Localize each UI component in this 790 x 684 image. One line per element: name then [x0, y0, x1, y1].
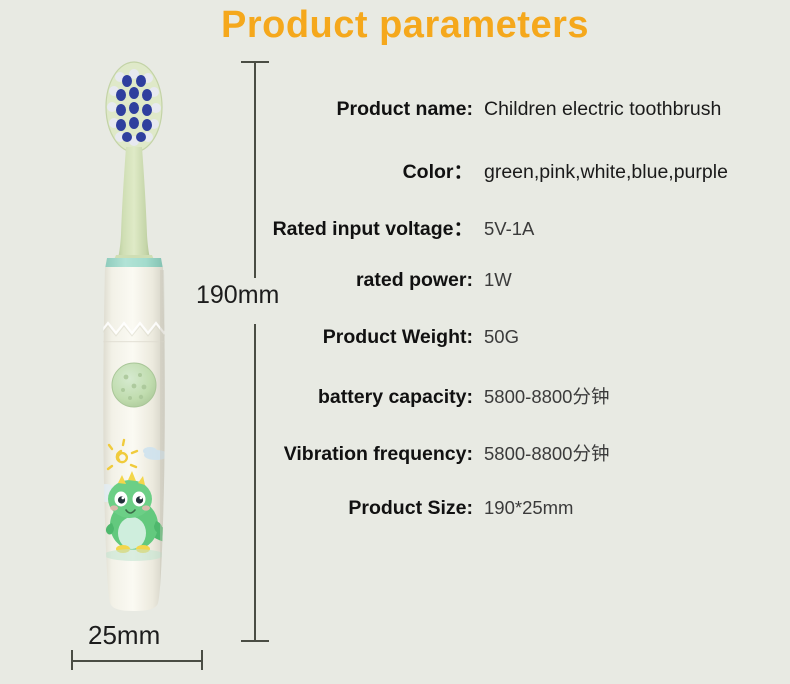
spec-value: 5V-1A [473, 218, 534, 240]
width-dimension-line [72, 660, 202, 662]
spec-label: rated power: [268, 269, 473, 292]
spec-row-product-size: Product Size: 190*25mm [268, 497, 778, 554]
spec-row-color: Color： green,pink,white,blue,purple [268, 155, 778, 212]
page-title: Product parameters [0, 2, 790, 48]
spec-label: battery capacity: [268, 386, 473, 409]
product-image-toothbrush [90, 55, 190, 615]
spec-value: Children electric toothbrush [473, 98, 721, 121]
spec-row-rated-power: rated power: 1W [268, 269, 778, 326]
spec-label: Product Size: [268, 497, 473, 520]
height-dimension-line [254, 62, 256, 641]
width-dimension-tick-left [71, 650, 73, 670]
spec-label: Color： [268, 155, 473, 184]
spec-value: 50G [473, 326, 519, 348]
height-dimension-cap-bottom [241, 640, 269, 642]
spec-value: 5800-8800分钟 [473, 383, 609, 409]
spec-value: 1W [473, 269, 512, 291]
spec-row-rated-input-voltage: Rated input voltage： 5V-1A [268, 212, 778, 269]
brush-neck [116, 147, 152, 267]
product-parameters-page: Product parameters [0, 0, 790, 684]
spec-label: Rated input voltage： [268, 212, 473, 241]
spec-label: Product Weight: [268, 326, 473, 349]
height-dimension-label: 190mm [196, 281, 279, 310]
spec-row-product-weight: Product Weight: 50G [268, 326, 778, 383]
spec-label: Vibration frequency: [268, 443, 473, 466]
spec-value: green,pink,white,blue,purple [473, 161, 728, 184]
spec-value: 190*25mm [473, 497, 573, 519]
spec-row-battery-capacity: battery capacity: 5800-8800分钟 [268, 383, 778, 440]
spec-label: Product name: [268, 98, 473, 121]
spec-row-vibration-frequency: Vibration frequency: 5800-8800分钟 [268, 440, 778, 497]
specifications-table: Product name: Children electric toothbru… [268, 98, 778, 554]
spec-row-product-name: Product name: Children electric toothbru… [268, 98, 778, 155]
width-dimension-tick-right [201, 650, 203, 670]
height-dimension-cap-top [241, 61, 269, 63]
width-dimension-label: 25mm [88, 620, 160, 651]
spec-value: 5800-8800分钟 [473, 440, 609, 466]
